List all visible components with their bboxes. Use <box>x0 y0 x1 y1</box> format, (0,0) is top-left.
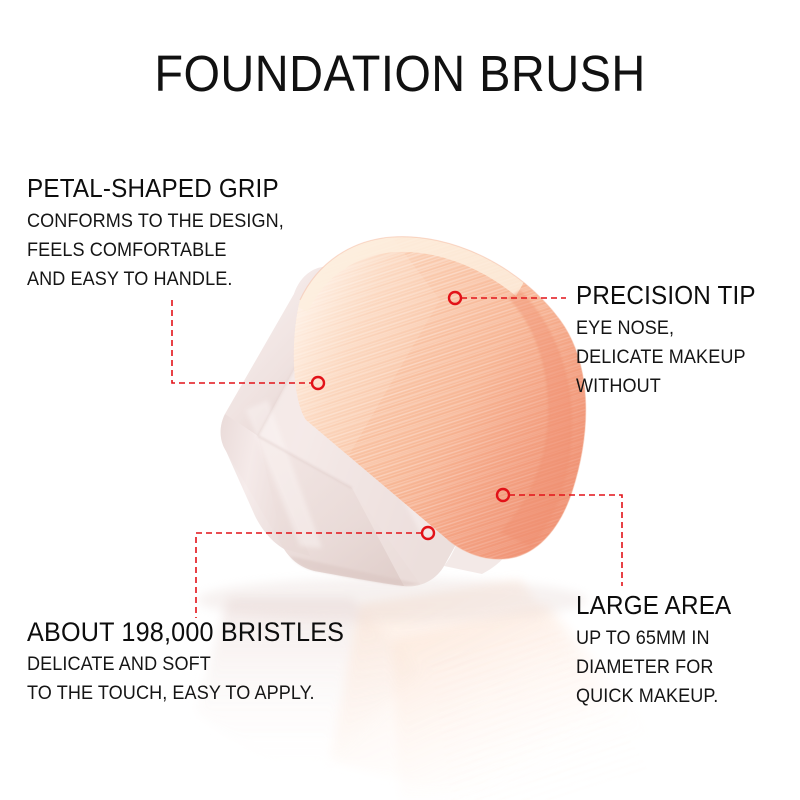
callout-body-line: QUICK MAKEUP. <box>576 682 731 711</box>
callout-body-line: DELICATE AND SOFT <box>27 650 344 679</box>
callout-marker-precision-tip[interactable] <box>449 292 461 304</box>
callout-heading: PRECISION TIP <box>576 281 756 311</box>
leader-line <box>172 300 312 383</box>
callout-marker-large-area[interactable] <box>497 489 509 501</box>
leader-large-area <box>497 489 622 586</box>
callout-body-line: DELICATE MAKEUP <box>576 343 756 372</box>
leader-line <box>196 533 422 618</box>
leader-petal-shaped-grip <box>172 300 324 389</box>
callout-heading: ABOUT 198,000 BRISTLES <box>27 617 344 647</box>
callout-body-line: CONFORMS TO THE DESIGN, <box>27 207 284 236</box>
leader-line <box>509 495 622 586</box>
product-infographic: FOUNDATION BRUSH <box>0 0 800 800</box>
leader-precision-tip <box>449 292 566 304</box>
callout-about-bristles: ABOUT 198,000 BRISTLES DELICATE AND SOFT… <box>27 617 361 708</box>
callout-body-line: DIAMETER FOR <box>576 653 731 682</box>
callout-heading: LARGE AREA <box>576 591 731 621</box>
callout-body-line: AND EASY TO HANDLE. <box>27 265 284 294</box>
callout-heading: PETAL-SHAPED GRIP <box>27 174 284 204</box>
callout-body-line: FEELS COMFORTABLE <box>27 236 284 265</box>
callout-body-line: EYE NOSE, <box>576 314 756 343</box>
callout-precision-tip: PRECISION TIP EYE NOSE, DELICATE MAKEUP … <box>576 281 765 401</box>
callout-petal-shaped-grip: PETAL-SHAPED GRIP CONFORMS TO THE DESIGN… <box>27 174 297 294</box>
callout-body-line: UP TO 65MM IN <box>576 624 731 653</box>
callout-body-line: TO THE TOUCH, EASY TO APPLY. <box>27 679 344 708</box>
leader-about-bristles <box>196 527 434 618</box>
callout-large-area: LARGE AREA UP TO 65MM IN DIAMETER FOR QU… <box>576 591 740 711</box>
callout-marker-petal-shaped-grip[interactable] <box>312 377 324 389</box>
callout-body-line: WITHOUT <box>576 372 756 401</box>
callout-marker-about-bristles[interactable] <box>422 527 434 539</box>
